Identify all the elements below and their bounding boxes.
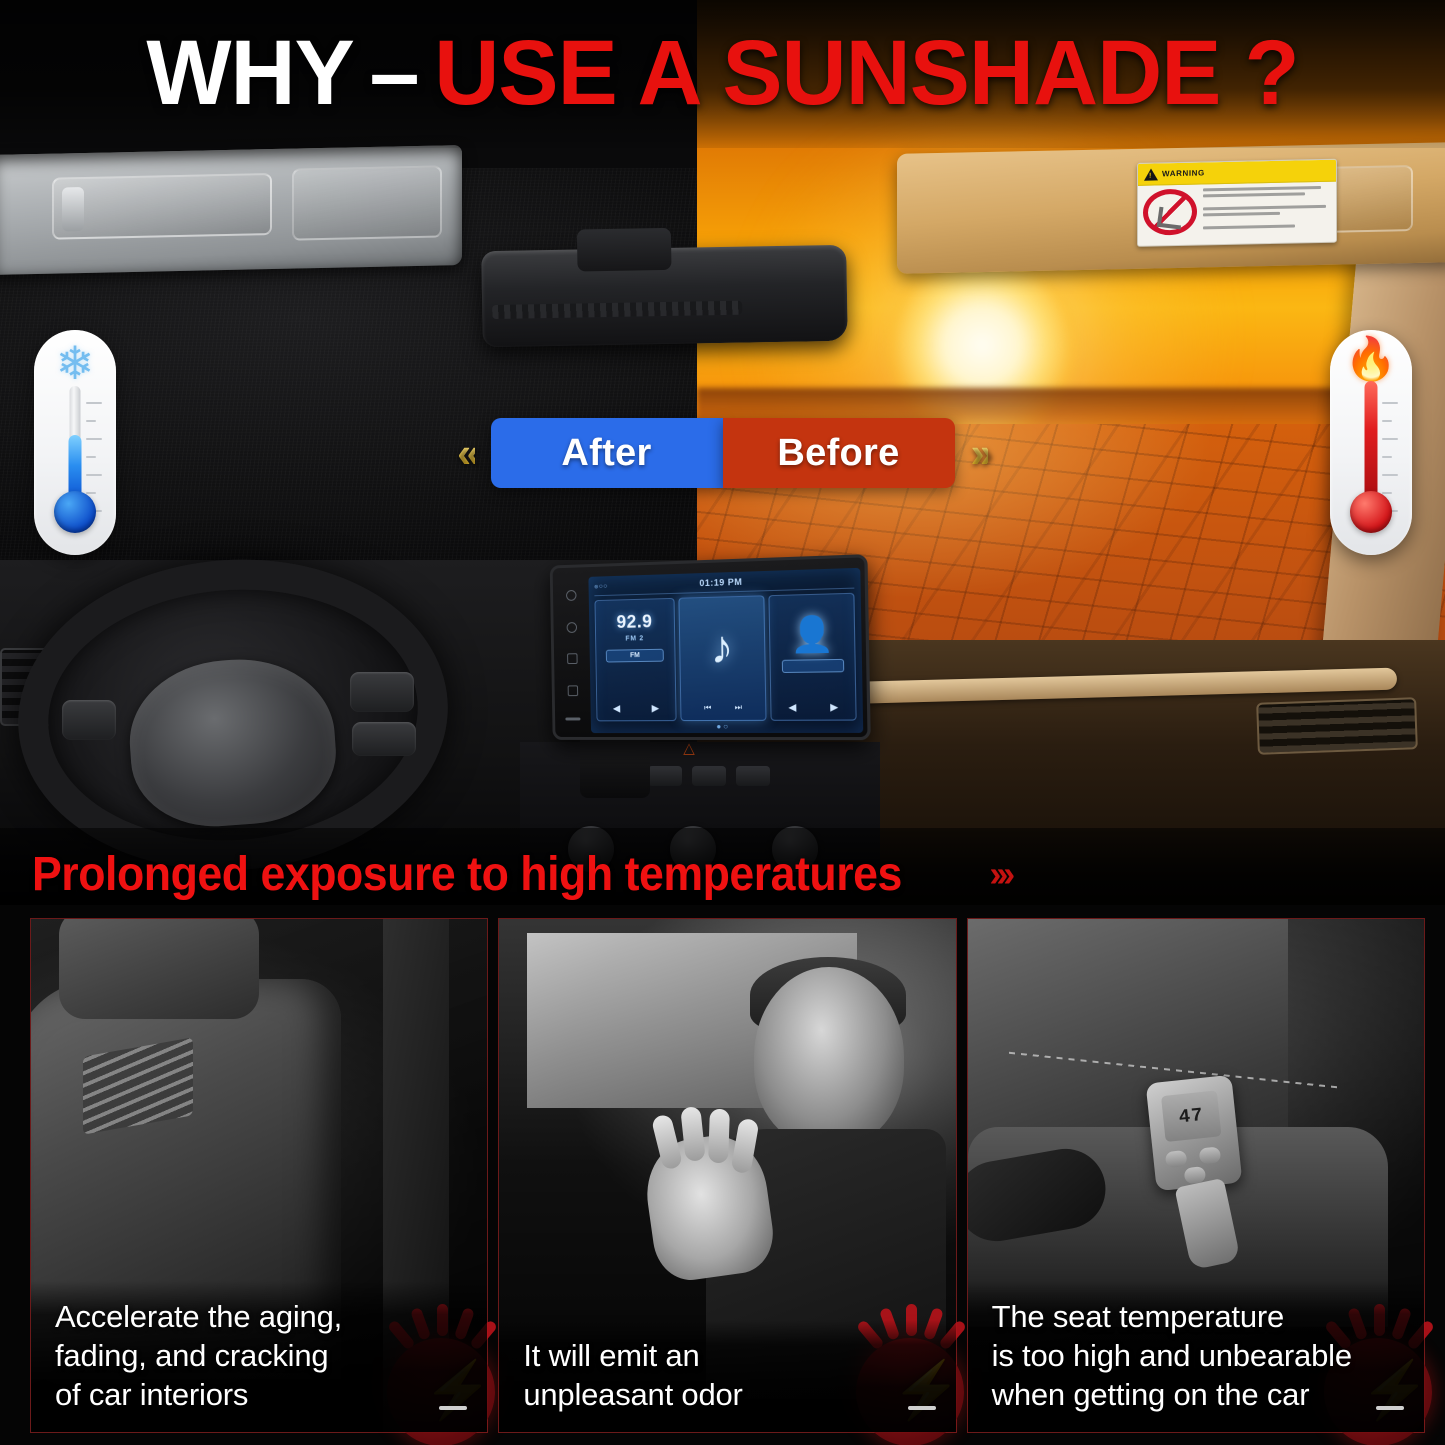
steering-control-left bbox=[62, 700, 116, 740]
hazard-light-icon: △ bbox=[676, 738, 702, 760]
thermometer-bulb-cold bbox=[54, 491, 96, 533]
radio-frequency-label: 92.9 bbox=[616, 611, 652, 633]
chevron-left-icon: « bbox=[457, 432, 474, 474]
music-note-icon: ♪ bbox=[710, 623, 734, 670]
screen-page-dots[interactable]: ●○ bbox=[591, 722, 863, 732]
clock-label: 01:19 PM bbox=[699, 577, 742, 588]
contact-prev-icon[interactable]: ◀ bbox=[788, 702, 796, 713]
photo2-finger bbox=[681, 1106, 707, 1162]
screen-widget-row: 92.9 FM 2 FM ◀ ▶ ♪ ⏮ ⏭ bbox=[594, 593, 856, 722]
thermometer-button bbox=[1164, 1150, 1187, 1168]
infotainment-screen: ๏○○ 01:19 PM 92.9 FM 2 FM ◀ ▶ bbox=[588, 568, 863, 733]
card-caption: It will emit an unpleasant odor bbox=[499, 1320, 955, 1432]
infrared-thermometer-icon: 47 bbox=[1145, 1075, 1242, 1191]
card-dash-mark bbox=[908, 1406, 936, 1410]
media-prev-icon[interactable]: ⏮ bbox=[704, 703, 711, 713]
radio-seek-next-icon[interactable]: ▶ bbox=[652, 703, 660, 714]
chevron-right-icon: » bbox=[971, 432, 988, 474]
title-dash: – bbox=[354, 21, 435, 126]
media-widget[interactable]: ♪ ⏮ ⏭ bbox=[678, 595, 767, 721]
vanity-mirror-lip bbox=[62, 187, 84, 231]
photo2-finger bbox=[708, 1109, 730, 1164]
snowflake-icon: ❄ bbox=[56, 340, 95, 386]
consequence-cards: ⚡ Accelerate the aging, fading, and crac… bbox=[30, 918, 1425, 1433]
page-title: WHY – USE A SUNSHADE ? bbox=[14, 18, 1430, 128]
contact-next-icon[interactable]: ▶ bbox=[830, 702, 838, 713]
card-caption: Accelerate the aging, fading, and cracki… bbox=[31, 1281, 487, 1432]
card-caption: The seat temperature is too high and unb… bbox=[968, 1281, 1424, 1432]
menu-button-icon bbox=[567, 686, 578, 697]
title-red-part: USE A SUNSHADE ? bbox=[434, 21, 1298, 126]
card-dash-mark bbox=[439, 1406, 467, 1410]
console-button-3 bbox=[736, 766, 770, 786]
volume-button-icon bbox=[567, 654, 578, 665]
console-button-1 bbox=[648, 766, 682, 786]
card-seat-temperature[interactable]: 47 ⚡ The seat temperature bbox=[967, 918, 1425, 1433]
phone-widget[interactable]: 👤 ◀ ▶ bbox=[769, 593, 857, 721]
photo1-headrest bbox=[59, 919, 259, 1019]
warning-triangle-icon bbox=[1144, 168, 1158, 180]
before-badge[interactable]: Before bbox=[723, 418, 955, 488]
sun-visor-right: WARNING bbox=[897, 142, 1445, 274]
rear-view-mirror bbox=[481, 245, 848, 347]
no-rear-facing-child-seat-icon bbox=[1143, 189, 1197, 236]
thermometer-reading: 47 bbox=[1161, 1090, 1222, 1142]
media-transport-controls[interactable]: ⏮ ⏭ bbox=[681, 703, 766, 714]
eject-button-icon bbox=[565, 718, 580, 721]
before-after-scene: WARNING △ bbox=[0, 0, 1445, 905]
flame-icon: 🔥 bbox=[1345, 338, 1397, 380]
radio-seek-controls[interactable]: ◀ ▶ bbox=[597, 703, 675, 714]
warning-label-text-lines bbox=[1203, 186, 1331, 235]
contact-browse-controls[interactable]: ◀ ▶ bbox=[772, 702, 856, 714]
title-white-part: WHY bbox=[146, 21, 353, 126]
before-after-badges: « After Before » bbox=[0, 414, 1445, 492]
warning-label-body bbox=[1138, 182, 1336, 240]
call-button[interactable] bbox=[782, 659, 844, 673]
thermometer-button bbox=[1198, 1146, 1221, 1164]
vanity-mirror-cover bbox=[52, 173, 272, 240]
card-aging-fading-cracking[interactable]: ⚡ Accelerate the aging, fading, and crac… bbox=[30, 918, 488, 1433]
sunshade-infographic: WARNING △ bbox=[0, 0, 1445, 1445]
midsection-headline: Prolonged exposure to high temperatures bbox=[32, 847, 902, 902]
contact-icon: 👤 bbox=[790, 617, 834, 653]
consequences-section: ⚡ Accelerate the aging, fading, and crac… bbox=[0, 905, 1445, 1445]
head-unit-stand bbox=[580, 736, 650, 798]
photo2-head bbox=[754, 967, 904, 1147]
thermometer-bulb-hot bbox=[1350, 491, 1392, 533]
sun-visor-left bbox=[0, 145, 462, 275]
visor-secondary-panel bbox=[292, 165, 442, 240]
card-dash-mark bbox=[1376, 1406, 1404, 1410]
warning-label-heading: WARNING bbox=[1162, 167, 1205, 179]
steering-control-right-top bbox=[350, 672, 414, 712]
radio-widget[interactable]: 92.9 FM 2 FM ◀ ▶ bbox=[594, 598, 676, 721]
power-button-icon bbox=[566, 590, 577, 601]
bluetooth-icon: ๏○○ bbox=[594, 581, 608, 592]
home-button-icon bbox=[566, 622, 577, 633]
head-unit-side-buttons bbox=[558, 579, 585, 731]
steering-control-right-bottom bbox=[352, 722, 416, 756]
air-vent-right bbox=[1256, 697, 1418, 755]
radio-seek-prev-icon[interactable]: ◀ bbox=[613, 704, 621, 715]
console-button-2 bbox=[692, 766, 726, 786]
midsection-chevrons-icon: ››› bbox=[989, 853, 1010, 895]
airbag-warning-label: WARNING bbox=[1137, 159, 1337, 247]
screen-status-bar: ๏○○ 01:19 PM bbox=[588, 571, 860, 594]
radio-band-label: FM 2 bbox=[625, 635, 644, 642]
card-unpleasant-odor[interactable]: ⚡ It will emit an unpleasant odor bbox=[498, 918, 956, 1433]
mirror-ridge bbox=[492, 301, 742, 319]
media-next-icon[interactable]: ⏭ bbox=[735, 703, 742, 713]
radio-preset-button[interactable]: FM bbox=[606, 649, 664, 663]
infotainment-head-unit: ๏○○ 01:19 PM 92.9 FM 2 FM ◀ ▶ bbox=[550, 554, 871, 740]
midsection-headline-band: Prolonged exposure to high temperatures … bbox=[0, 828, 1445, 905]
after-badge[interactable]: After bbox=[491, 418, 723, 488]
